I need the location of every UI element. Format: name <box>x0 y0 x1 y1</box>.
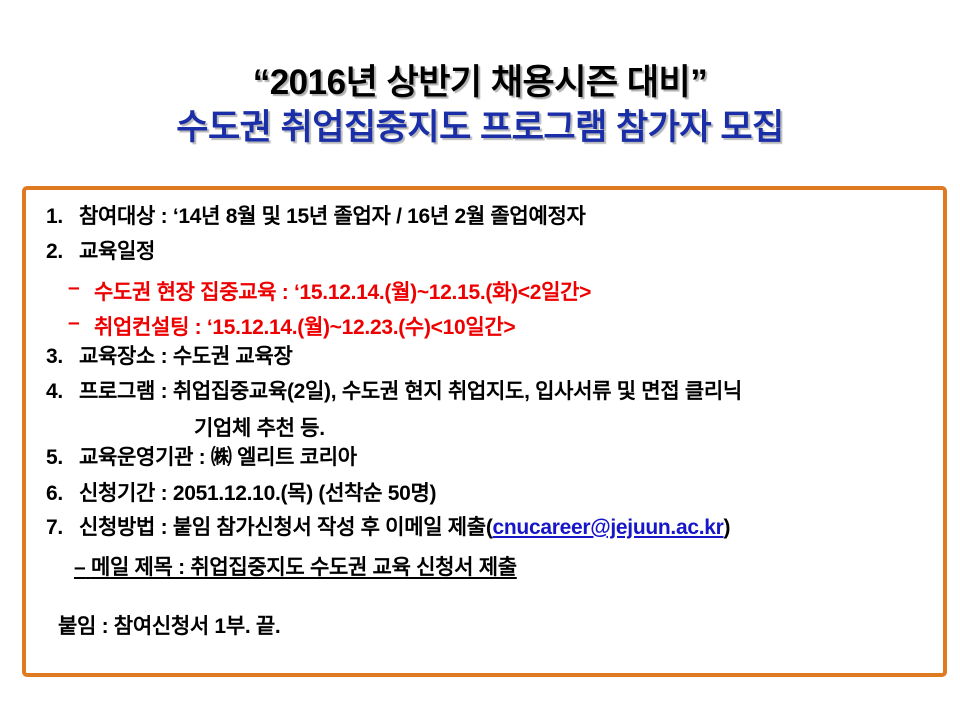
mail-subject-dash: – <box>74 556 85 579</box>
mail-subject-text: 메일 제목 : 취업집중지도 수도권 교육 신청서 제출 <box>91 556 517 579</box>
item-text: 프로그램 : 취업집중교육(2일), 수도권 현지 취업지도, 입사서류 및 면… <box>79 381 742 402</box>
item-text: 교육운영기관 : ㈱ 엘리트 코리아 <box>79 447 357 468</box>
program-continuation-line: 기업체 추천 등. <box>46 412 325 442</box>
item-number: 1. <box>46 206 79 227</box>
item-number: 2. <box>46 241 79 262</box>
list-item-operator: 5. 교육운영기관 : ㈱ 엘리트 코리아 <box>46 447 357 468</box>
item-text: 신청기간 : 2051.12.10.(목) (선착순 50명) <box>79 483 436 504</box>
mail-subject-line: – 메일 제목 : 취업집중지도 수도권 교육 신청서 제출 <box>46 551 517 581</box>
list-item-application-method: 7. 신청방법 : 붙임 참가신청서 작성 후 이메일 제출(cnucareer… <box>46 517 730 538</box>
item-text: 참여대상 : ‘14년 8월 및 15년 졸업자 / 16년 2월 졸업예정자 <box>79 206 586 227</box>
email-close-paren: ) <box>724 516 731 539</box>
list-item-application-period: 6. 신청기간 : 2051.12.10.(목) (선착순 50명) <box>46 483 436 504</box>
item-text-wrapper: 신청방법 : 붙임 참가신청서 작성 후 이메일 제출(cnucareer@je… <box>79 517 730 538</box>
schedule-subitem-intensive: – 수도권 현장 집중교육 : ‘15.12.14.(월)~12.15.(화)<… <box>46 276 591 306</box>
poster-title-block: “2016년 상반기 채용시즌 대비” 수도권 취업집중지도 프로그램 참가자 … <box>0 62 960 149</box>
item-number: 4. <box>46 381 79 402</box>
item-number: 5. <box>46 447 79 468</box>
schedule-subitem-text: 수도권 현장 집중교육 : ‘15.12.14.(월)~12.15.(화)<2일… <box>94 276 591 306</box>
schedule-subitem-text: 취업컨설팅 : ‘15.12.14.(월)~12.23.(수)<10일간> <box>94 311 515 341</box>
list-item-schedule: 2. 교육일정 <box>46 241 155 262</box>
poster-root: “2016년 상반기 채용시즌 대비” 수도권 취업집중지도 프로그램 참가자 … <box>0 0 960 720</box>
item-number: 6. <box>46 483 79 504</box>
list-item-participants: 1. 참여대상 : ‘14년 8월 및 15년 졸업자 / 16년 2월 졸업예… <box>46 206 586 227</box>
title-line-primary: “2016년 상반기 채용시즌 대비” <box>0 62 960 105</box>
list-item-location: 3. 교육장소 : 수도권 교육장 <box>46 346 293 367</box>
item-number: 3. <box>46 346 79 367</box>
content-box: 1. 참여대상 : ‘14년 8월 및 15년 졸업자 / 16년 2월 졸업예… <box>22 186 947 677</box>
content-inner: 1. 참여대상 : ‘14년 8월 및 15년 졸업자 / 16년 2월 졸업예… <box>34 198 935 665</box>
item-number: 7. <box>46 517 79 538</box>
schedule-subitem-consulting: – 취업컨설팅 : ‘15.12.14.(월)~12.23.(수)<10일간> <box>46 311 515 341</box>
item-text: 신청방법 : 붙임 참가신청서 작성 후 이메일 제출( <box>79 516 493 539</box>
attachment-note: 붙임 : 참여신청서 1부. 끝. <box>46 610 280 640</box>
title-line-secondary: 수도권 취업집중지도 프로그램 참가자 모집 <box>0 107 960 150</box>
dash-marker-icon: – <box>46 311 94 335</box>
item-text: 교육일정 <box>79 241 155 262</box>
item-text: 교육장소 : 수도권 교육장 <box>79 346 293 367</box>
email-link[interactable]: cnucareer@jejuun.ac.kr <box>493 516 724 539</box>
dash-marker-icon: – <box>46 276 94 300</box>
list-item-program: 4. 프로그램 : 취업집중교육(2일), 수도권 현지 취업지도, 입사서류 … <box>46 381 742 402</box>
